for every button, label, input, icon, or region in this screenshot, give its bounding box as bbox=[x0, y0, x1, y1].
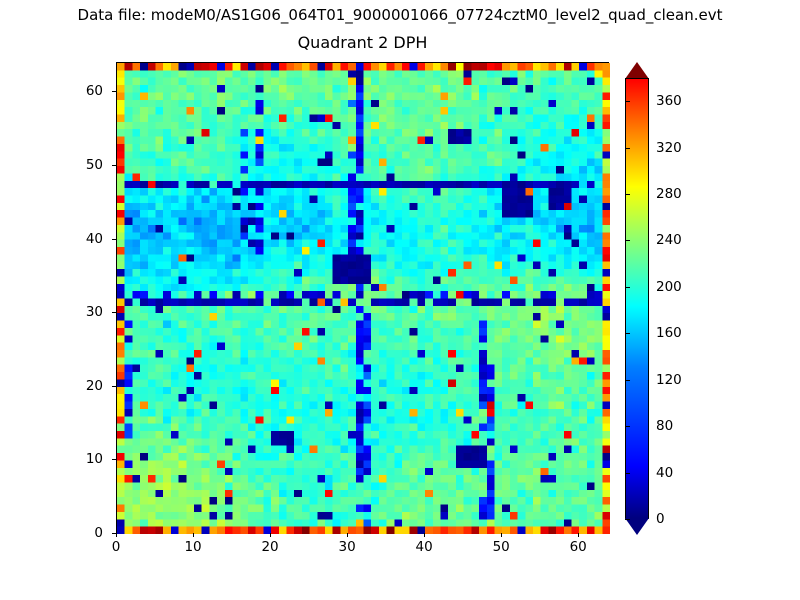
colorbar-tick-label: 240 bbox=[656, 233, 682, 247]
y-tick-label: 20 bbox=[63, 379, 103, 393]
y-tick-label: 0 bbox=[63, 526, 103, 540]
colorbar-tick-label: 160 bbox=[656, 326, 682, 340]
x-tick-mark bbox=[501, 533, 502, 537]
colorbar-tick-mark bbox=[625, 148, 630, 149]
plot-title: Quadrant 2 DPH bbox=[116, 33, 609, 53]
x-tick-label: 20 bbox=[250, 540, 290, 554]
colorbar-tick-mark bbox=[625, 519, 630, 520]
heatmap-image bbox=[117, 63, 610, 534]
y-tick-label: 40 bbox=[63, 232, 103, 246]
x-tick-mark bbox=[116, 533, 117, 537]
y-tick-mark bbox=[112, 165, 116, 166]
colorbar-tick-mark bbox=[625, 287, 630, 288]
heatmap-axes bbox=[116, 62, 609, 533]
y-tick-label: 10 bbox=[63, 452, 103, 466]
colorbar-gradient bbox=[625, 78, 649, 519]
colorbar bbox=[625, 62, 649, 535]
y-tick-label: 30 bbox=[63, 305, 103, 319]
y-tick-mark bbox=[112, 386, 116, 387]
x-tick-mark bbox=[347, 533, 348, 537]
colorbar-tick-label: 40 bbox=[656, 466, 673, 480]
colorbar-under-arrow-icon bbox=[625, 518, 649, 535]
colorbar-tick-label: 0 bbox=[656, 512, 665, 526]
colorbar-tick-mark bbox=[625, 380, 630, 381]
x-tick-label: 30 bbox=[327, 540, 367, 554]
y-tick-label: 60 bbox=[63, 84, 103, 98]
colorbar-over-arrow-icon bbox=[625, 62, 649, 79]
x-tick-label: 10 bbox=[173, 540, 213, 554]
colorbar-tick-mark bbox=[625, 240, 630, 241]
y-tick-mark bbox=[112, 533, 116, 534]
colorbar-tick-label: 320 bbox=[656, 141, 682, 155]
x-tick-label: 50 bbox=[481, 540, 521, 554]
colorbar-tick-mark bbox=[625, 194, 630, 195]
y-tick-mark bbox=[112, 459, 116, 460]
x-tick-label: 40 bbox=[404, 540, 444, 554]
x-tick-label: 60 bbox=[558, 540, 598, 554]
colorbar-tick-label: 80 bbox=[656, 419, 673, 433]
y-tick-mark bbox=[112, 312, 116, 313]
figure-canvas: Data file: modeM0/AS1G06_064T01_90000010… bbox=[0, 0, 800, 600]
colorbar-tick-mark bbox=[625, 473, 630, 474]
colorbar-tick-label: 120 bbox=[656, 373, 682, 387]
x-tick-mark bbox=[578, 533, 579, 537]
x-tick-mark bbox=[193, 533, 194, 537]
y-tick-label: 50 bbox=[63, 158, 103, 172]
y-tick-mark bbox=[112, 239, 116, 240]
colorbar-tick-label: 360 bbox=[656, 94, 682, 108]
x-tick-label: 0 bbox=[96, 540, 136, 554]
y-tick-mark bbox=[112, 91, 116, 92]
colorbar-tick-label: 200 bbox=[656, 280, 682, 294]
x-tick-mark bbox=[424, 533, 425, 537]
colorbar-tick-label: 280 bbox=[656, 187, 682, 201]
colorbar-tick-mark bbox=[625, 426, 630, 427]
x-tick-mark bbox=[270, 533, 271, 537]
colorbar-tick-mark bbox=[625, 101, 630, 102]
figure-suptitle: Data file: modeM0/AS1G06_064T01_90000010… bbox=[0, 6, 800, 24]
colorbar-tick-mark bbox=[625, 333, 630, 334]
